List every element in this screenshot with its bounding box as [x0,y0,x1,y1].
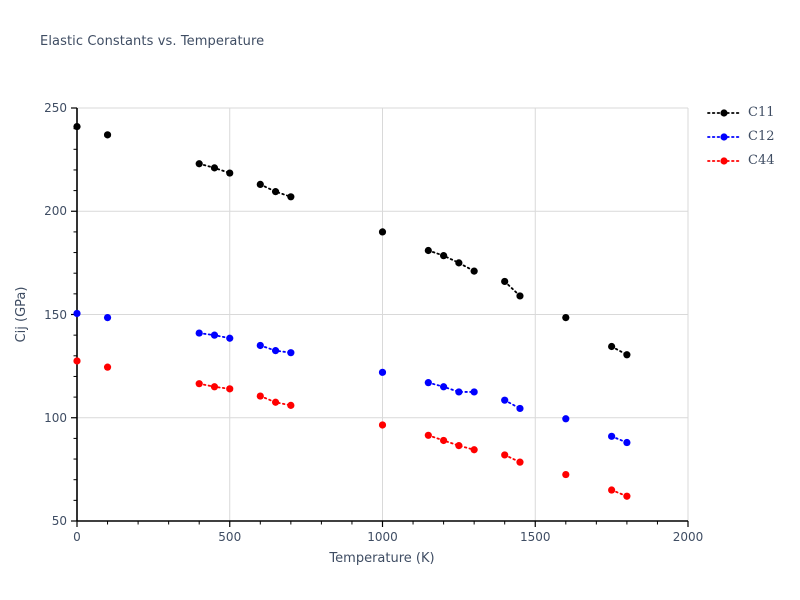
legend-item-c44[interactable]: C44 [706,148,796,172]
data-point [287,402,294,409]
data-point [257,392,264,399]
legend-item-c12[interactable]: C12 [706,124,796,148]
data-point [501,451,508,458]
data-point [104,314,111,321]
data-point [471,268,478,275]
data-point [440,252,447,259]
data-point [257,342,264,349]
chart-figure: Elastic Constants vs. Temperature 050010… [0,0,800,600]
chart-title: Elastic Constants vs. Temperature [40,34,264,49]
data-point [196,160,203,167]
data-point [272,188,279,195]
data-point [104,131,111,138]
data-point [379,421,386,428]
data-point [516,405,523,412]
data-point [257,181,264,188]
series-c44 [73,357,630,499]
data-point [226,335,233,342]
data-point [455,259,462,266]
data-point [226,169,233,176]
data-point [211,383,218,390]
data-point [623,439,630,446]
data-point [272,347,279,354]
x-tick-label: 2000 [673,530,704,544]
data-point [623,493,630,500]
data-point [608,486,615,493]
data-point [516,459,523,466]
data-point [562,415,569,422]
data-point [501,278,508,285]
data-point [425,247,432,254]
gridlines [77,108,688,521]
data-point [73,123,80,130]
x-tick-label: 1500 [520,530,551,544]
series-c12 [73,310,630,446]
data-point [211,164,218,171]
x-tick-label: 1000 [367,530,398,544]
data-point [226,385,233,392]
legend-item-label: C12 [748,129,775,144]
data-point [623,351,630,358]
legend-marker-icon [706,153,742,167]
data-point [73,357,80,364]
data-point [440,383,447,390]
data-point [471,446,478,453]
plot-canvas [77,108,688,521]
data-point [440,437,447,444]
data-point [287,349,294,356]
chart-legend: C11C12C44 [706,100,796,172]
legend-marker-icon [706,129,742,143]
y-axis-label: Cij (GPa) [14,108,29,521]
data-point [196,380,203,387]
data-point [379,228,386,235]
data-point [455,442,462,449]
x-axis-label: Temperature (K) [0,551,800,566]
plot-area [77,108,688,521]
data-point [196,329,203,336]
axis-ticks [71,108,688,527]
data-point [608,343,615,350]
data-point [562,471,569,478]
legend-item-label: C11 [748,105,775,120]
data-point [501,397,508,404]
data-point [425,432,432,439]
data-point [73,310,80,317]
data-point [455,388,462,395]
data-point [608,433,615,440]
data-point [287,193,294,200]
legend-item-c11[interactable]: C11 [706,100,796,124]
data-point [211,332,218,339]
data-point [379,369,386,376]
x-tick-label: 0 [73,530,81,544]
legend-item-label: C44 [748,153,775,168]
x-axis-label-text: Temperature (K) [329,551,434,566]
series-c11 [73,123,630,358]
data-point [272,399,279,406]
data-point [104,364,111,371]
x-tick-label: 500 [218,530,241,544]
data-point [516,292,523,299]
data-point [425,379,432,386]
data-point [471,388,478,395]
data-point [562,314,569,321]
legend-marker-icon [706,105,742,119]
